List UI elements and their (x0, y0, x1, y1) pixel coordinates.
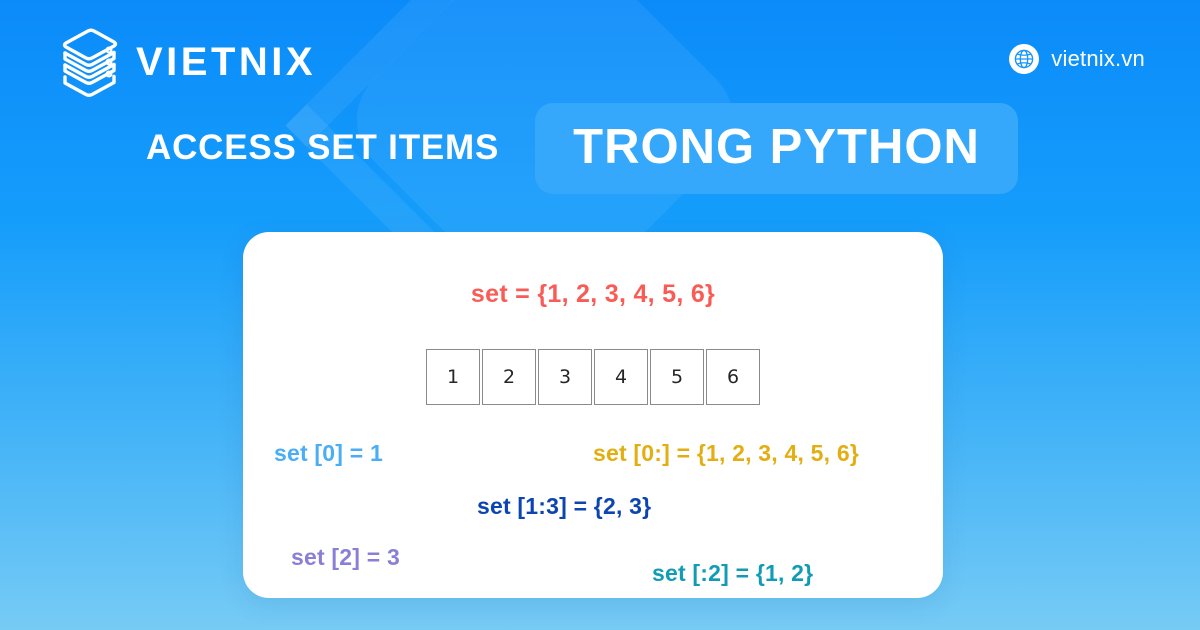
title-badge: TRONG PYTHON (535, 103, 1018, 194)
title-primary: ACCESS SET ITEMS (146, 128, 499, 168)
slice-label-start-2: set [:2] = {1, 2} (652, 560, 813, 587)
brand-logo[interactable]: VIETNIX (60, 27, 316, 97)
set-item-box: 5 (650, 349, 704, 405)
globe-icon (1009, 44, 1039, 74)
set-item-box: 4 (594, 349, 648, 405)
website-url: vietnix.vn (1051, 48, 1145, 70)
index-label-0: set [0] = 1 (274, 440, 383, 467)
index-label-2: set [2] = 3 (291, 544, 400, 571)
brand-name: VIETNIX (136, 42, 316, 82)
set-item-box: 3 (538, 349, 592, 405)
set-item-box: 2 (482, 349, 536, 405)
slice-label-1-3: set [1:3] = {2, 3} (477, 493, 651, 520)
slice-label-0-end: set [0:] = {1, 2, 3, 4, 5, 6} (593, 440, 859, 467)
illustration-card: set = {1, 2, 3, 4, 5, 6} 1 2 3 4 5 6 set… (243, 232, 943, 598)
website-link[interactable]: vietnix.vn (1009, 44, 1145, 74)
stacked-layers-icon (60, 27, 122, 97)
title-row: ACCESS SET ITEMS TRONG PYTHON (0, 100, 1200, 196)
thumbnail-canvas: VIETNIX vietnix.vn ACCESS SET ITEMS TRON… (0, 0, 1200, 630)
set-item-boxes: 1 2 3 4 5 6 (243, 349, 943, 405)
set-declaration: set = {1, 2, 3, 4, 5, 6} (243, 280, 943, 309)
set-item-box: 6 (706, 349, 760, 405)
set-item-box: 1 (426, 349, 480, 405)
